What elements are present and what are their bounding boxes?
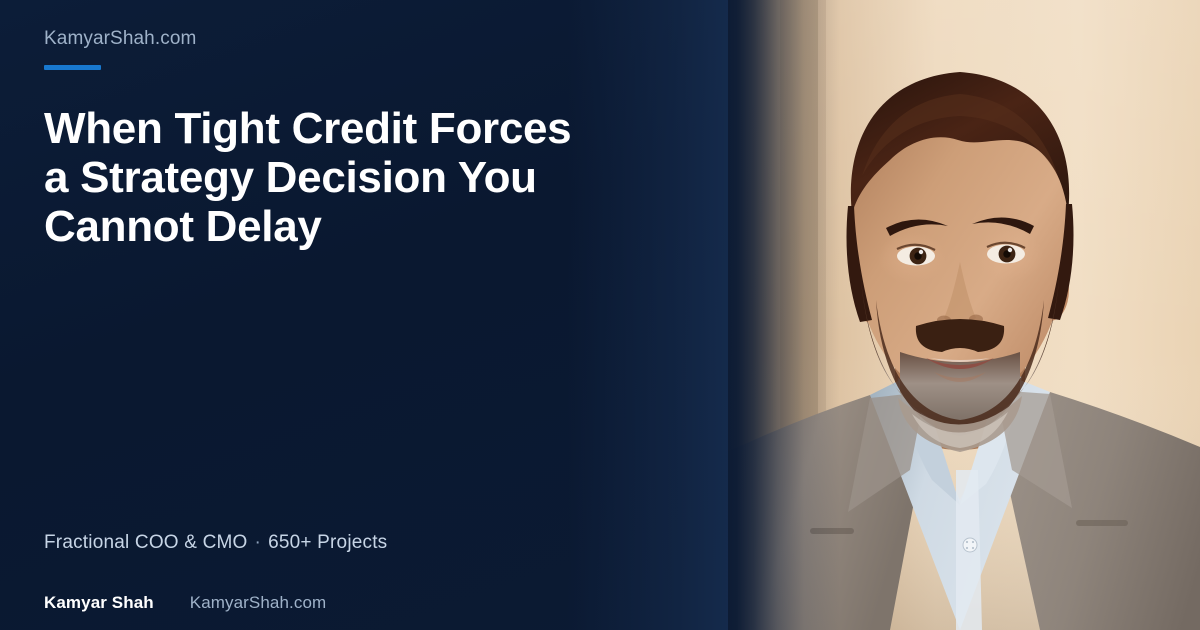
headline-line-2: a Strategy Decision You bbox=[44, 153, 537, 202]
brand-label: KamyarShah.com bbox=[44, 28, 196, 50]
page-title: When Tight Credit Forcesa Strategy Decis… bbox=[44, 104, 644, 251]
footer: Kamyar Shah KamyarShah.com bbox=[44, 593, 326, 613]
tagline-metric: 650+ Projects bbox=[268, 532, 387, 553]
footer-site-url: KamyarShah.com bbox=[190, 593, 327, 613]
content-panel: KamyarShah.com When Tight Credit Forcesa… bbox=[0, 0, 728, 630]
tagline-role: Fractional COO & CMO bbox=[44, 532, 248, 553]
headline-line-1: When Tight Credit Forces bbox=[44, 104, 571, 153]
portrait-illustration bbox=[720, 0, 1200, 630]
accent-rule bbox=[44, 65, 101, 70]
social-share-card: KamyarShah.com When Tight Credit Forcesa… bbox=[0, 0, 1200, 630]
tagline: Fractional COO & CMO·650+ Projects bbox=[44, 532, 387, 554]
footer-author-name: Kamyar Shah bbox=[44, 593, 154, 613]
tagline-separator: · bbox=[248, 532, 269, 553]
headline-line-3: Cannot Delay bbox=[44, 202, 322, 251]
portrait-photo bbox=[720, 0, 1200, 630]
